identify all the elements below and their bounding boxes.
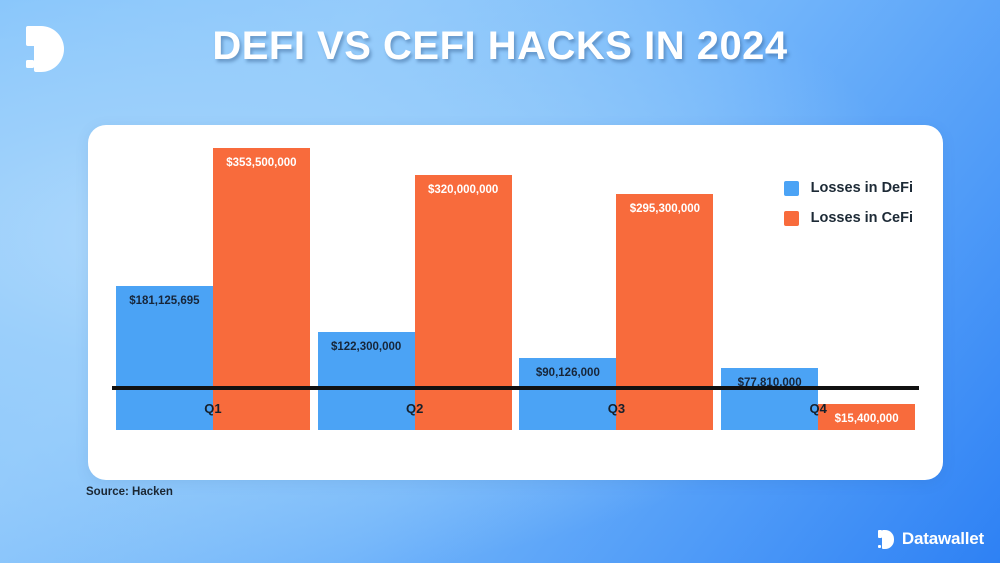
x-axis-label-q1: Q1 [112,401,314,416]
bar-group-q4: $77,810,000$15,400,000Q4 [717,148,919,430]
watermark-pixel-3 [883,545,887,549]
bar-group-q3: $90,126,000$295,300,000Q3 [516,148,718,430]
bar-value-label: $295,300,000 [630,203,700,215]
watermark-pixel-1 [882,540,886,544]
datawallet-watermark: Datawallet [877,529,984,549]
bar-chart-plot-area: $181,125,695$353,500,000Q1$122,300,000$3… [112,151,919,480]
axis-segment [516,386,718,390]
axis-segment [314,386,516,390]
bar-value-label: $122,300,000 [331,341,401,353]
x-axis-label-q4: Q4 [717,401,919,416]
bar-value-label: $320,000,000 [428,184,498,196]
bar-defi-q4[interactable]: $77,810,000 [721,368,818,430]
bar-value-label: $181,125,695 [129,295,199,307]
bar-cefi-q3[interactable]: $295,300,000 [616,194,713,430]
axis-segment [112,386,314,390]
source-note: Source: Hacken [86,486,173,498]
bar-group-q1: $181,125,695$353,500,000Q1 [112,148,314,430]
watermark-pixel-2 [878,545,882,549]
axis-segment [717,386,919,390]
bar-value-label: $90,126,000 [536,367,600,379]
watermark-label: Datawallet [902,529,984,549]
chart-card: Losses in DeFi Losses in CeFi $181,125,6… [88,125,943,480]
bar-group-q2: $122,300,000$320,000,000Q2 [314,148,516,430]
x-axis-label-q3: Q3 [516,401,718,416]
x-axis-label-q2: Q2 [314,401,516,416]
datawallet-d-logo-icon [877,530,896,549]
bar-value-label: $353,500,000 [226,157,296,169]
bar-cefi-q2[interactable]: $320,000,000 [415,175,512,430]
page-title: DEFI VS CEFI HACKS IN 2024 [0,24,1000,69]
bar-defi-q3[interactable]: $90,126,000 [519,358,616,430]
watermark-stem-shape [878,530,882,538]
